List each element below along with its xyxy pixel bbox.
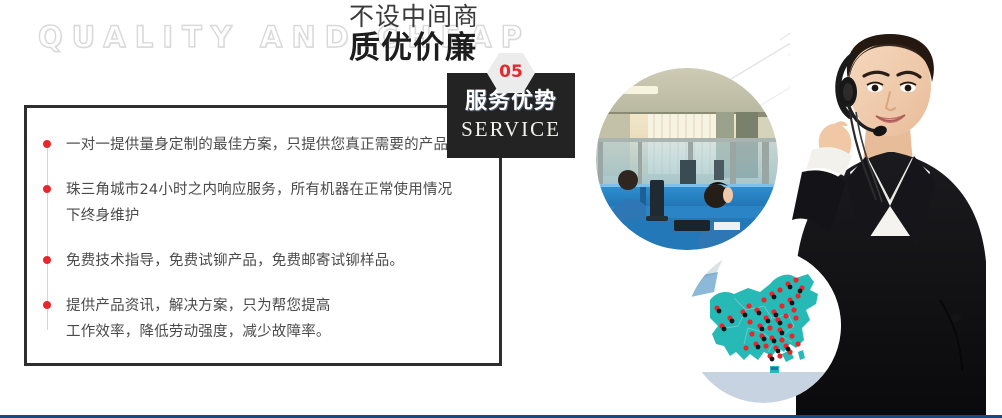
headline-chinese: 不设中间商 质优价廉 <box>349 4 479 65</box>
bullet-dot-icon <box>43 140 51 148</box>
china-service-coverage-map <box>686 248 841 403</box>
list-item: 一对一提供量身定制的最佳方案，只提供您真正需要的产品 <box>40 132 470 158</box>
list-item: 提供产品资讯，解决方案，只为帮您提高 工作效率，降低劳动强度，减少故障率。 <box>40 293 470 345</box>
badge-title-english: SERVICE <box>461 119 561 140</box>
advantage-list: 一对一提供量身定制的最佳方案，只提供您真正需要的产品 珠三角城市24小时之内响应… <box>40 132 470 364</box>
list-item-text-line: 工作效率，降低劳动强度，减少故障率。 <box>66 319 470 345</box>
list-item-text-line: 提供产品资讯，解决方案，只为帮您提高 <box>66 293 470 319</box>
bullet-dot-icon <box>43 256 51 264</box>
headline-chinese-line-1: 不设中间商 <box>349 4 479 30</box>
badge-number: 05 <box>499 64 523 82</box>
list-item: 珠三角城市24小时之内响应服务，所有机器在正常使用情况 下终身维护 <box>40 177 470 229</box>
badge-title-chinese: 服务优势 <box>465 91 557 113</box>
service-advantage-banner: QUALITY AND CHEAP 不设中间商 质优价廉 一对一提供量身定制的最… <box>0 0 1002 418</box>
bullet-dot-icon <box>43 185 51 193</box>
list-item-text-line: 一对一提供量身定制的最佳方案，只提供您真正需要的产品 <box>66 132 470 158</box>
service-badge: 05 服务优势 SERVICE <box>447 73 575 158</box>
bullet-dot-icon <box>43 301 51 309</box>
list-item: 免费技术指导，免费试铆产品，免费邮寄试铆样品。 <box>40 248 470 274</box>
call-center-office-photo <box>596 68 778 250</box>
list-item-text-line: 下终身维护 <box>66 203 470 229</box>
list-item-text-line: 珠三角城市24小时之内响应服务，所有机器在正常使用情况 <box>66 177 470 203</box>
headline-chinese-line-2: 质优价廉 <box>349 32 479 65</box>
list-item-text-line: 免费技术指导，免费试铆产品，免费邮寄试铆样品。 <box>66 248 470 274</box>
